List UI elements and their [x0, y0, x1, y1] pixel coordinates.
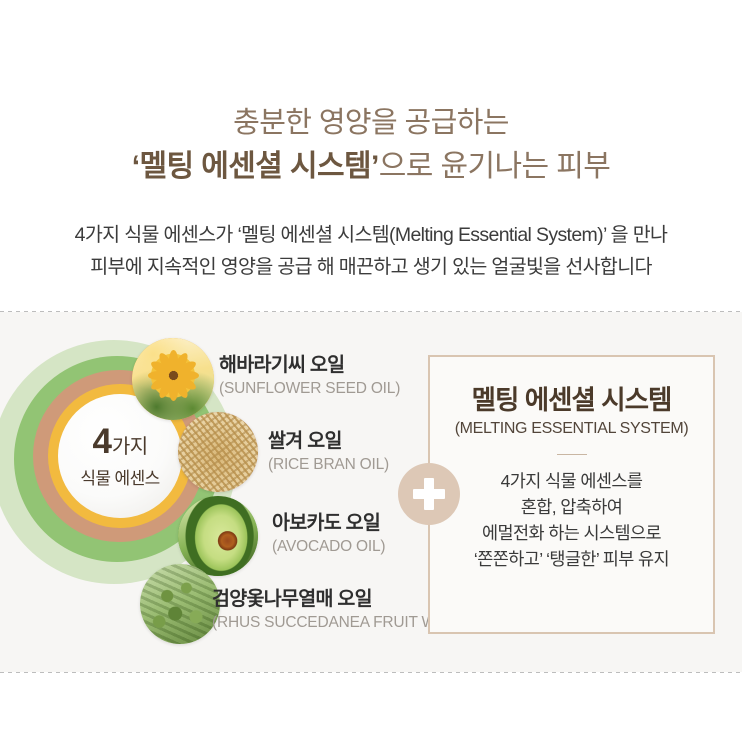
melting-essential-system-panel: 멜팅 에센셜 시스템 (MELTING ESSENTIAL SYSTEM) 4가…	[428, 355, 715, 634]
panel-desc-line-4: ‘쫀쫀하고’ ‘탱글한’ 피부 유지	[474, 547, 669, 573]
panel-title: 멜팅 에센셜 시스템	[472, 385, 672, 415]
headline-line-2-rest: 으로 윤기나는 피부	[379, 150, 610, 183]
ingredient-label-rice-bran: 쌀겨 오일 (RICE BRAN OIL)	[268, 430, 389, 476]
ingredient-name-en-rice-bran: (RICE BRAN OIL)	[268, 455, 389, 476]
headline-line-1: 충분한 영양을 공급하는	[0, 104, 742, 143]
core-subtitle: 식물 에센스	[80, 464, 159, 489]
panel-divider-rule	[557, 454, 587, 455]
avocado-image	[178, 496, 258, 576]
headline: 충분한 영양을 공급하는 ‘멜팅 에센셜 시스템’으로 윤기나는 피부	[0, 104, 742, 187]
headline-emphasis: ‘멜팅 에센셜 시스템’	[132, 150, 379, 183]
infographic-page: 충분한 영양을 공급하는 ‘멜팅 에센셜 시스템’으로 윤기나는 피부 4가지 …	[0, 0, 742, 742]
panel-desc-line-3: 에멀전화 하는 시스템으로	[474, 521, 669, 547]
subheadline-line-1: 4가지 식물 에센스가 ‘멜팅 에센셜 시스템(Melting Essentia…	[0, 220, 742, 252]
subheadline: 4가지 식물 에센스가 ‘멜팅 에센셜 시스템(Melting Essentia…	[0, 220, 742, 283]
ingredient-photo-avocado	[178, 496, 258, 576]
ingredient-name-kr-sunflower: 해바라기씨 오일	[219, 354, 400, 377]
rice-bran-image	[178, 412, 258, 492]
ingredient-photo-rhus	[140, 564, 220, 644]
ingredient-name-kr-rhus: 검양옻나무열매 오일	[212, 588, 461, 611]
header-section: 충분한 영양을 공급하는 ‘멜팅 에센셜 시스템’으로 윤기나는 피부 4가지 …	[0, 0, 742, 311]
panel-subtitle: (MELTING ESSENTIAL SYSTEM)	[455, 420, 689, 438]
ingredient-name-en-avocado: (AVOCADO OIL)	[272, 537, 385, 558]
ingredient-name-en-sunflower: (SUNFLOWER SEED OIL)	[219, 379, 400, 400]
content-band: 4 가지 식물 에센스	[0, 312, 742, 672]
core-count-unit: 가지	[112, 437, 148, 457]
core-count-number: 4	[92, 424, 110, 459]
rhus-image	[140, 564, 220, 644]
ingredient-label-avocado: 아보카도 오일 (AVOCADO OIL)	[272, 512, 385, 558]
divider-bottom	[0, 672, 742, 673]
panel-desc-line-2: 혼합, 압축하여	[474, 495, 669, 521]
ingredient-label-sunflower: 해바라기씨 오일 (SUNFLOWER SEED OIL)	[219, 354, 400, 400]
panel-desc-line-1: 4가지 식물 에센스를	[474, 469, 669, 495]
ingredient-name-kr-avocado: 아보카도 오일	[272, 512, 385, 535]
subheadline-line-2: 피부에 지속적인 영양을 공급 해 매끈하고 생기 있는 얼굴빛을 선사합니다	[0, 252, 742, 284]
ingredient-label-rhus: 검양옻나무열매 오일 (RHUS SUCCEDANEA FRUIT WAX)	[212, 588, 461, 634]
sunflower-image	[132, 338, 214, 420]
panel-description: 4가지 식물 에센스를 혼합, 압축하여 에멀전화 하는 시스템으로 ‘쫀쫀하고…	[474, 469, 669, 573]
ingredient-name-en-rhus: (RHUS SUCCEDANEA FRUIT WAX)	[212, 613, 461, 634]
ingredient-photo-rice-bran	[178, 412, 258, 492]
ingredient-name-kr-rice-bran: 쌀겨 오일	[268, 430, 389, 453]
plus-icon	[398, 463, 460, 525]
headline-line-2: ‘멜팅 에센셜 시스템’으로 윤기나는 피부	[0, 147, 742, 187]
core-count-row: 4 가지	[92, 424, 147, 459]
panel-body: 멜팅 에센셜 시스템 (MELTING ESSENTIAL SYSTEM) 4가…	[430, 357, 713, 632]
ingredient-photo-sunflower	[132, 338, 214, 420]
